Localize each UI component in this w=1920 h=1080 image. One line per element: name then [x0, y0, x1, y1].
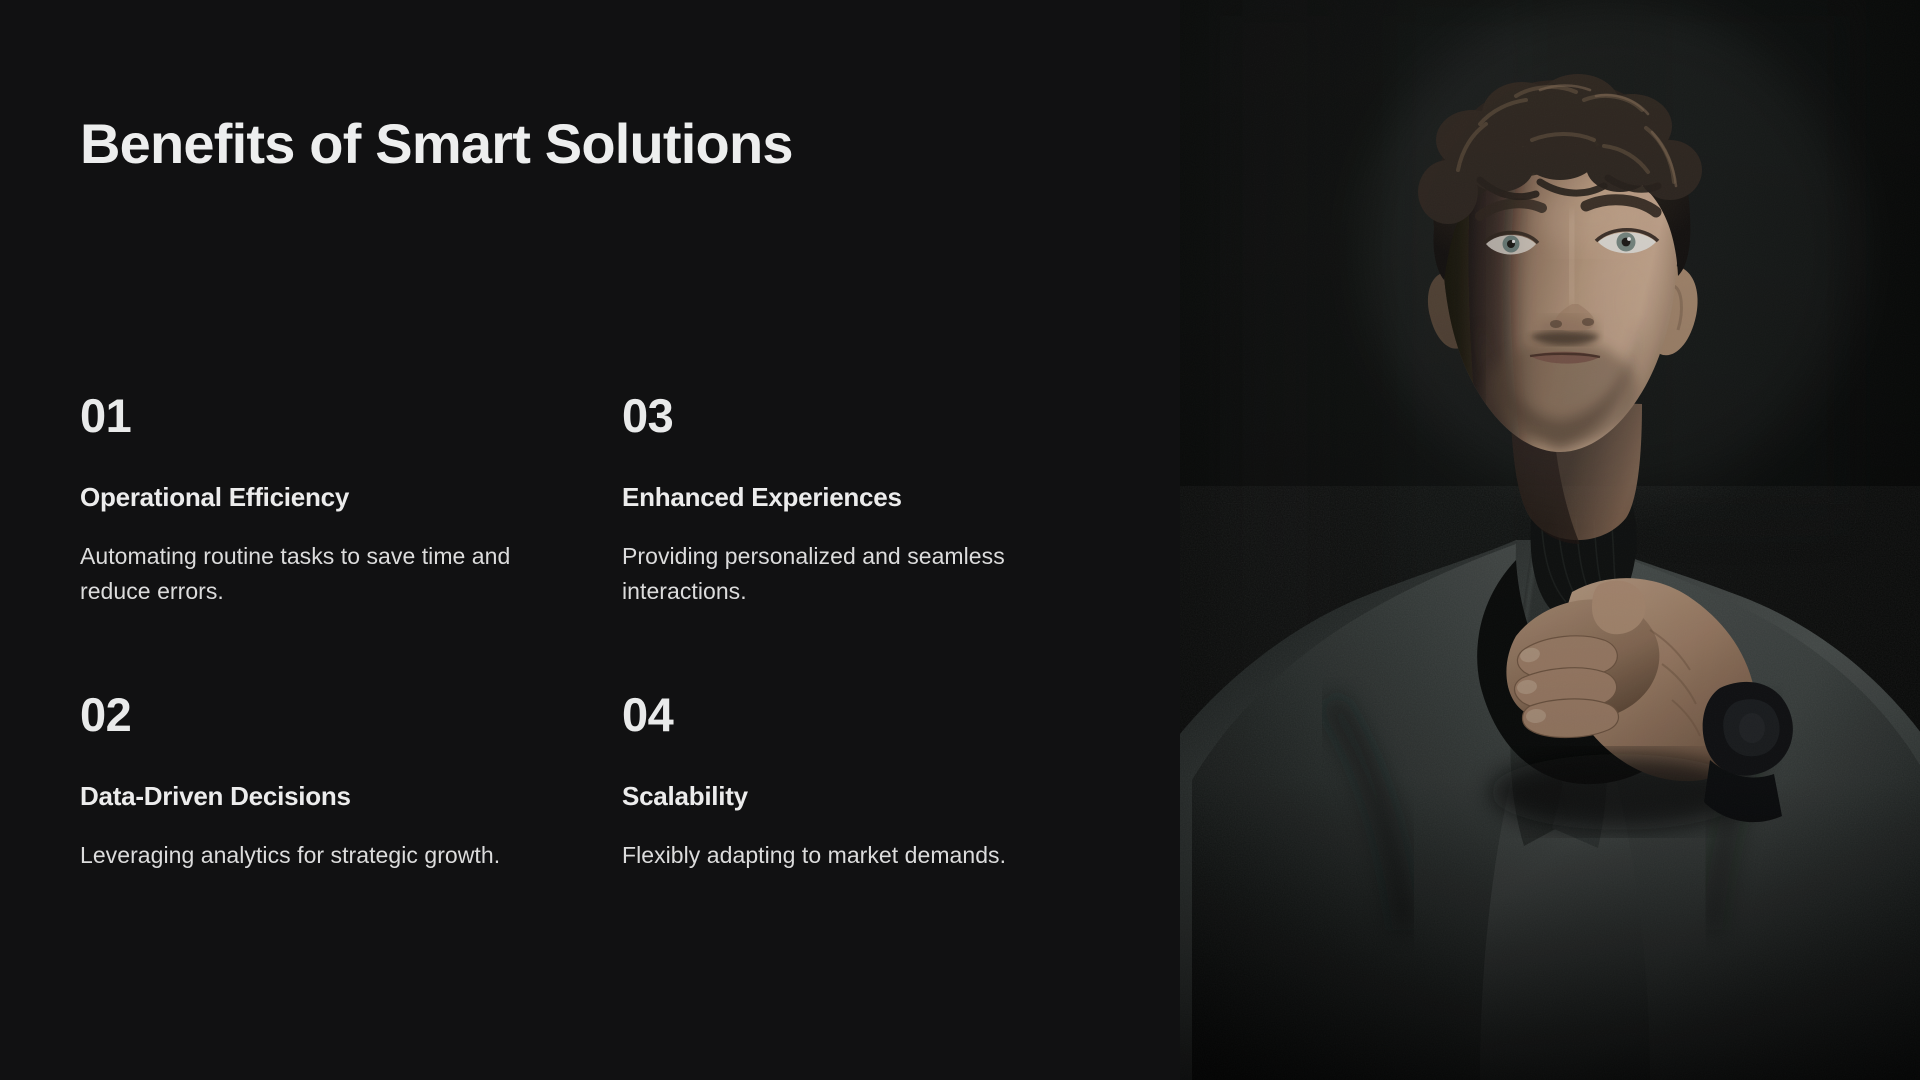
benefit-item-04: 04 Scalability Flexibly adapting to mark… — [622, 691, 1092, 873]
benefit-heading: Data-Driven Decisions — [80, 782, 550, 812]
portrait-illustration — [1180, 0, 1920, 1080]
benefit-heading: Enhanced Experiences — [622, 483, 1092, 513]
benefit-number: 01 — [80, 392, 550, 439]
benefit-heading: Scalability — [622, 782, 1092, 812]
benefit-number: 03 — [622, 392, 1092, 439]
slide-root: Benefits of Smart Solutions 01 Operation… — [0, 0, 1920, 1080]
benefit-number: 02 — [80, 691, 550, 738]
benefit-description: Automating routine tasks to save time an… — [80, 539, 550, 609]
benefit-description: Providing personalized and seamless inte… — [622, 539, 1092, 609]
benefit-heading: Operational Efficiency — [80, 483, 550, 513]
benefits-grid: 01 Operational Efficiency Automating rou… — [80, 392, 1100, 873]
benefit-description: Flexibly adapting to market demands. — [622, 838, 1092, 873]
benefit-item-01: 01 Operational Efficiency Automating rou… — [80, 392, 550, 609]
text-panel: Benefits of Smart Solutions 01 Operation… — [0, 0, 1180, 1080]
benefit-item-02: 02 Data-Driven Decisions Leveraging anal… — [80, 691, 550, 873]
benefit-item-03: 03 Enhanced Experiences Providing person… — [622, 392, 1092, 609]
benefit-description: Leveraging analytics for strategic growt… — [80, 838, 550, 873]
portrait-photo — [1180, 0, 1920, 1080]
page-title: Benefits of Smart Solutions — [80, 114, 793, 173]
benefit-number: 04 — [622, 691, 1092, 738]
